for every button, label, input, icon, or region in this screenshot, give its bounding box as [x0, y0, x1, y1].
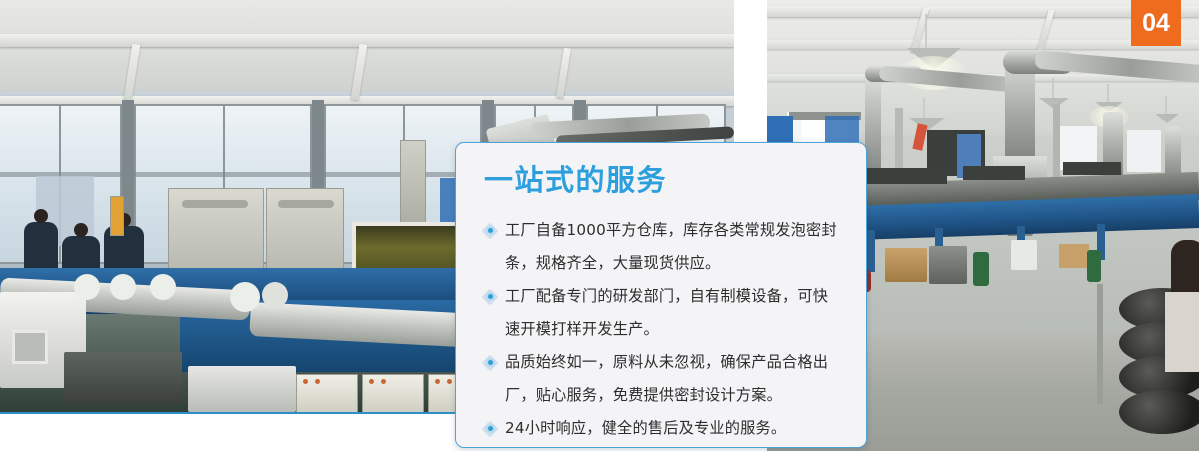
- rack-post: [1097, 284, 1103, 404]
- dot-shape: [488, 228, 493, 233]
- material-roll: [1119, 390, 1199, 434]
- list-item: 工厂配备专门的研发部门，自有制模设备，可快速开模打样开发生产。: [484, 280, 840, 346]
- control-unit: [296, 374, 358, 414]
- list-item: 24小时响应，健全的售后及专业的服务。: [484, 412, 840, 445]
- pendant-lamp-icon: [1155, 114, 1179, 123]
- worker-head: [34, 209, 48, 223]
- hopper-cap: [262, 282, 288, 308]
- status-led-icon: [435, 379, 440, 384]
- equipment-box: [1059, 244, 1089, 268]
- white-container: [1011, 240, 1037, 270]
- service-card: 一站式的服务 工厂自备1000平方仓库，库存各类常规发泡密封条，规格齐全，大量现…: [455, 142, 867, 448]
- hopper-cap: [150, 274, 176, 300]
- list-item: 工厂自备1000平方仓库，库存各类常规发泡密封条，规格齐全，大量现货供应。: [484, 214, 840, 280]
- status-led-icon: [369, 379, 374, 384]
- diamond-bullet-icon: [484, 423, 496, 435]
- status-led-icon: [447, 379, 452, 384]
- green-drum: [1087, 250, 1101, 282]
- conveyor-belt: [963, 166, 1025, 180]
- worker-head: [74, 223, 88, 237]
- diamond-bullet-icon: [484, 357, 496, 369]
- warning-light: [110, 196, 124, 236]
- drive-motor: [64, 352, 182, 404]
- hopper-cap: [74, 274, 100, 300]
- dot-shape: [488, 294, 493, 299]
- hopper-cap: [230, 282, 260, 312]
- worker-body: [1165, 292, 1199, 372]
- worker-hair: [1171, 240, 1199, 300]
- diamond-bullet-icon: [484, 225, 496, 237]
- hopper-cap: [110, 274, 136, 300]
- wall-window: [1127, 130, 1161, 172]
- status-led-icon: [315, 379, 320, 384]
- control-unit: [362, 374, 424, 414]
- service-bullet-list: 工厂自备1000平方仓库，库存各类常规发泡密封条，规格齐全，大量现货供应。 工厂…: [484, 214, 840, 445]
- card-title: 一站式的服务: [484, 165, 840, 197]
- lamp-rod: [1107, 84, 1109, 104]
- equipment-box: [929, 246, 967, 284]
- lamp-rod: [925, 14, 927, 52]
- gearbox: [188, 366, 296, 412]
- promo-banner: 04 一站式的服务 工厂自备1000平方仓库，库存各类常规发泡密封条，规格齐全，…: [0, 0, 1199, 451]
- dot-shape: [488, 426, 493, 431]
- inspection-window: [12, 330, 48, 364]
- section-number-badge: 04: [1131, 0, 1181, 46]
- status-led-icon: [303, 379, 308, 384]
- status-led-icon: [381, 379, 386, 384]
- list-item-text: 24小时响应，健全的售后及专业的服务。: [505, 419, 786, 437]
- lamp-rod: [923, 98, 925, 120]
- cabinet-vent: [182, 200, 248, 208]
- dot-shape: [488, 360, 493, 365]
- conveyor-belt: [867, 168, 947, 184]
- equipment-box: [885, 248, 927, 282]
- green-drum: [973, 252, 989, 286]
- lamp-rod: [1165, 96, 1167, 116]
- diamond-bullet-icon: [484, 291, 496, 303]
- lamp-rod: [1052, 78, 1054, 100]
- conveyor-belt: [1063, 162, 1121, 175]
- machine-leg: [867, 230, 875, 272]
- cabinet-vent: [278, 200, 334, 208]
- list-item-text: 工厂自备1000平方仓库，库存各类常规发泡密封条，规格齐全，大量现货供应。: [505, 221, 837, 272]
- list-item-text: 工厂配备专门的研发部门，自有制模设备，可快速开模打样开发生产。: [505, 287, 828, 338]
- list-item-text: 品质始终如一，原料从未忽视，确保产品合格出厂，贴心服务，免费提供密封设计方案。: [505, 353, 828, 404]
- list-item: 品质始终如一，原料从未忽视，确保产品合格出厂，贴心服务，免费提供密封设计方案。: [484, 346, 840, 412]
- section-number-text: 04: [1142, 11, 1170, 36]
